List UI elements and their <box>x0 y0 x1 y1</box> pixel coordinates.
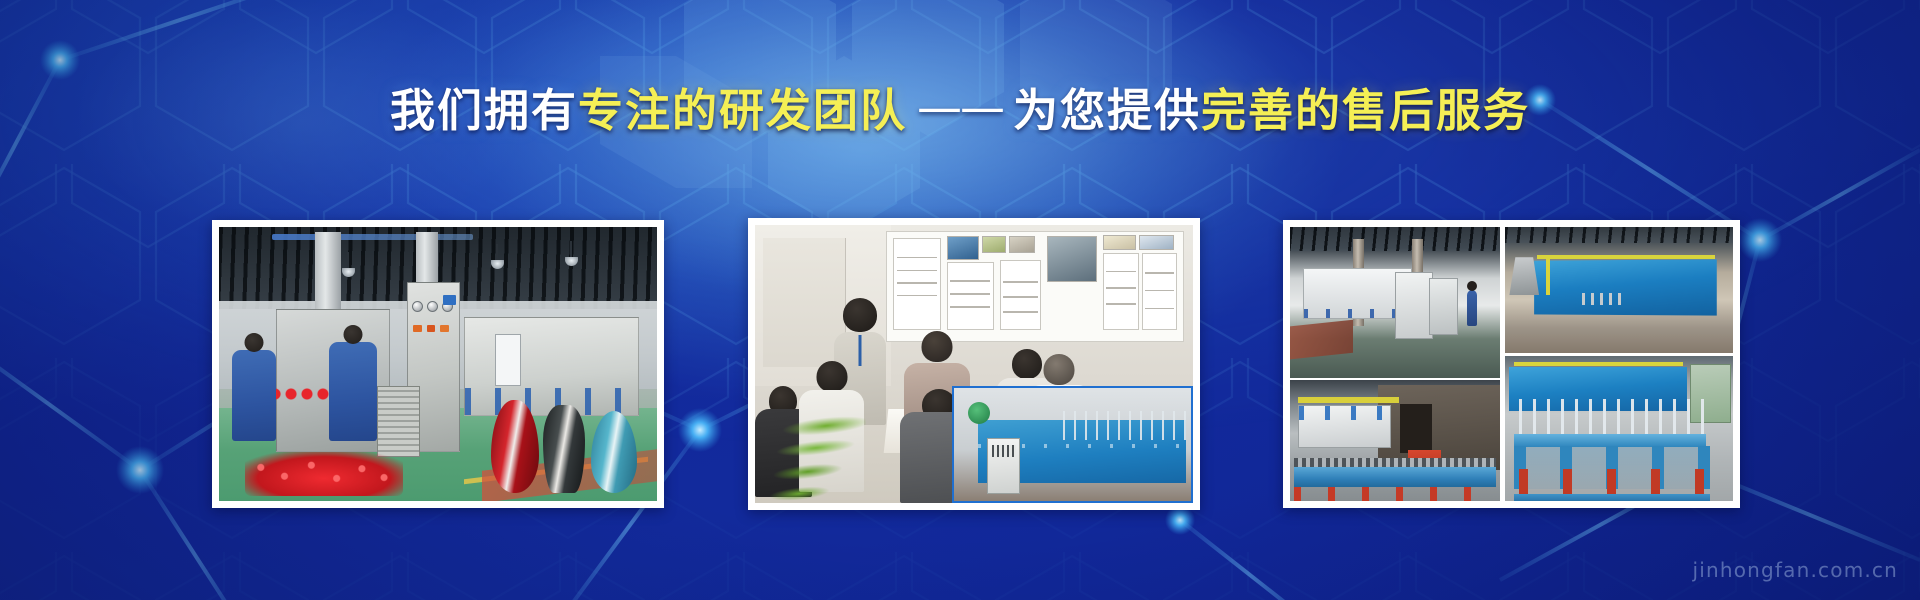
headline-segment-1: 我们拥有 <box>390 88 578 133</box>
glass-vase-red <box>491 400 539 493</box>
headline-segment-2: 专注的研发团队 <box>578 88 907 133</box>
photo-factory-production-line <box>219 227 657 501</box>
machinery-inset-photo <box>952 386 1193 503</box>
poster-photo <box>947 236 980 260</box>
factory-worker <box>232 350 276 440</box>
photo-gallery-row <box>0 218 1920 510</box>
panel-label-badge <box>443 295 456 305</box>
glass-vase-dark <box>543 405 585 493</box>
certificate-thumb <box>1103 235 1136 250</box>
photo-frame-equipment-collage[interactable] <box>1283 220 1740 508</box>
certificate-thumb <box>1139 235 1174 250</box>
blue-oven-tunnel <box>1534 259 1716 316</box>
factory-worker <box>329 342 377 441</box>
yellow-gas-pipe <box>1514 362 1683 366</box>
factory-worker <box>1467 290 1478 326</box>
valve-assembly <box>1582 293 1623 306</box>
headline-dash-separator: —— <box>907 85 1013 130</box>
control-cabinet <box>987 438 1020 494</box>
roof-beams <box>1290 227 1500 251</box>
collage-cell-conveyor <box>1290 380 1500 501</box>
green-reel <box>968 402 990 424</box>
photo-frame-factory-production-line[interactable] <box>212 220 664 508</box>
poster-photo <box>1009 236 1036 253</box>
plastic-crate <box>377 386 421 457</box>
headline-segment-3: 为您提供 <box>1013 88 1201 133</box>
frame-base <box>1514 494 1710 501</box>
overhead-crane-rail <box>1298 397 1399 403</box>
yellow-gas-pipe <box>1546 257 1550 295</box>
poster-photo <box>1047 236 1097 282</box>
poster-sheet <box>893 238 940 330</box>
hanging-hooks <box>1519 399 1706 437</box>
headline-segment-4: 完善的售后服务 <box>1201 88 1530 133</box>
poster-sheet <box>1103 253 1138 329</box>
promo-banner: 我们拥有专注的研发团队——为您提供完善的售后服务 <box>0 0 1920 600</box>
conveyor-support-legs <box>1294 487 1496 501</box>
banner-headline: 我们拥有专注的研发团队——为您提供完善的售后服务 <box>0 84 1920 133</box>
poster-sheet <box>947 262 994 330</box>
ceiling-lamp-icon <box>491 260 504 269</box>
site-watermark: jinhongfan.com.cn <box>1692 558 1898 582</box>
chain-conveyor <box>1294 467 1496 486</box>
floor-marking <box>1290 320 1353 360</box>
collage-cell-drying-line <box>1290 227 1500 378</box>
hanging-hooks <box>1063 411 1186 440</box>
poster-photo <box>982 236 1006 253</box>
drying-oven <box>1298 405 1391 448</box>
potted-palm-plant <box>759 403 873 503</box>
poster-sheet <box>1000 260 1041 330</box>
yellow-gas-pipe <box>1537 255 1715 259</box>
technical-poster-board <box>886 231 1184 342</box>
glass-vase-blue <box>591 411 637 493</box>
panel-indicator-lights <box>413 325 448 337</box>
equipment-cabinet <box>1395 272 1433 338</box>
photo-equipment-collage <box>1290 227 1733 501</box>
equipment-cabinet <box>1429 278 1458 335</box>
collage-cell-blue-oven <box>1505 227 1733 353</box>
photo-team-meeting <box>755 225 1193 503</box>
red-product-pile <box>245 452 403 496</box>
photo-frame-team-meeting[interactable] <box>748 218 1200 510</box>
roof-beams <box>1505 227 1733 243</box>
oven-notice-sheet <box>495 334 521 386</box>
collage-cell-hanging-line <box>1505 356 1733 501</box>
poster-sheet <box>1142 253 1177 329</box>
